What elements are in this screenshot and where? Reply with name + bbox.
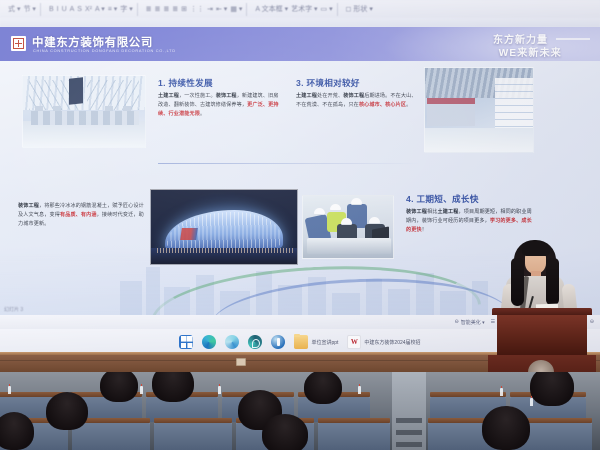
audience-head: [100, 372, 138, 402]
font-color-icon[interactable]: A ▾: [95, 6, 105, 13]
copilot-icon[interactable]: [248, 335, 262, 349]
wall-socket: [236, 358, 246, 366]
block-4-title: 4. 工期短、成长快: [406, 193, 532, 205]
picture-icon[interactable]: ▭ ▾: [321, 6, 333, 13]
wordart-icon[interactable]: 艺术字 ▾: [291, 6, 317, 13]
aisle: [392, 372, 426, 450]
audience-area: [0, 372, 600, 450]
ribbon-icon-section[interactable]: 节 ▾: [23, 6, 35, 13]
slide-text-block-4[interactable]: 4. 工期短、成长快 装饰工程相比土建工程，项目周期更短，相同的职业周期内，装饰…: [406, 193, 532, 235]
ribbon-divider: [0, 18, 600, 27]
ribbon-group-font[interactable]: B I U A S X² A ▾ ≡ ▾ 字 ▾: [45, 3, 138, 16]
ribbon-icon-style[interactable]: 式 ▾: [8, 6, 20, 13]
italic-icon[interactable]: I: [57, 6, 59, 13]
audience-head: [46, 392, 88, 430]
superscript-icon[interactable]: X²: [85, 6, 92, 13]
text-effect-icon[interactable]: 字 ▾: [120, 6, 132, 13]
header-glow: [370, 27, 600, 61]
taskbar-item-wps[interactable]: W 中建东方装饰2024届校招: [347, 335, 420, 349]
slide-text-block-1[interactable]: 1. 持续性发展 土建工程，一次性施工。装饰工程，新建建筑、旧房改造、翻新装饰、…: [158, 77, 282, 119]
block-3-title: 3. 环境相对较好: [296, 77, 418, 89]
audience-head: [304, 372, 342, 404]
windows-start-icon[interactable]: [179, 335, 193, 349]
slogan-rule: [556, 38, 590, 40]
align-left-icon[interactable]: ≣: [146, 6, 152, 13]
audience-head: [482, 406, 530, 450]
screenshot-root: 式 ▾ 节 ▾ B I U A S X² A ▾ ≡ ▾ 字 ▾ ≣ ≣ ≣ ≣…: [0, 0, 600, 450]
slide-text-block-3[interactable]: 3. 环境相对较好 土建工程处在开荒、装饰工程后期进场。不在大山、不在荒漠、不在…: [296, 77, 418, 110]
company-logo-icon: [11, 36, 26, 51]
photo-opera-house-night: [150, 189, 298, 265]
wps-icon: W: [347, 335, 361, 349]
audience-head: [0, 412, 34, 450]
shape-icon[interactable]: ◻ 形状 ▾: [346, 6, 373, 13]
photo-airport-terminal: [22, 75, 146, 148]
block-3-body: 土建工程处在开荒、装饰工程后期进场。不在大山、不在荒漠、不在孤岛，只在核心城市、…: [296, 92, 418, 110]
ribbon-group-style[interactable]: 式 ▾ 节 ▾: [4, 3, 41, 16]
slogan-english: WE来新未来: [499, 44, 562, 59]
photo-construction-workers: [302, 195, 394, 259]
podium-top: [492, 308, 592, 315]
presenter: [478, 236, 600, 386]
textbox-icon[interactable]: A 文本框 ▾: [255, 6, 288, 13]
podium-body: [497, 315, 587, 355]
slide-text-block-2[interactable]: 装饰工程，将那些冷冰冰的钢筋混凝土，赋予匠心设计及人文气息，变得有品质、有内涵，…: [18, 202, 144, 229]
font-case-icon[interactable]: A: [70, 6, 75, 13]
ribbon-group-paragraph[interactable]: ≣ ≣ ≣ ≣ ⊞ ⋮⋮ ⇥ ⇤ ▾ ▦ ▾: [142, 3, 248, 16]
wps-ribbon-toolbar[interactable]: 式 ▾ 节 ▾ B I U A S X² A ▾ ≡ ▾ 字 ▾ ≣ ≣ ≣ ≣…: [0, 0, 600, 18]
taskbar-item-folder[interactable]: 单位宣讲ppt: [294, 335, 338, 349]
taskbar-wps-label: 中建东方装饰2024届校招: [364, 339, 420, 346]
browser-icon[interactable]: [225, 335, 239, 349]
align-right-icon[interactable]: ≣: [163, 6, 169, 13]
folder-icon: [294, 335, 308, 349]
block-2-body: 装饰工程，将那些冷冰冰的钢筋混凝土，赋予匠心设计及人文气息，变得有品质、有内涵，…: [18, 202, 144, 229]
photo-atrium-corridor: [424, 67, 534, 153]
taskbar-folder-label: 单位宣讲ppt: [311, 339, 338, 346]
sparkle-icon: ⊖: [455, 319, 459, 325]
presenter-fringe: [522, 242, 550, 256]
company-name-en: CHINA CONSTRUCTION DONGFANG DECORATION C…: [33, 48, 176, 53]
line-spacing-icon[interactable]: ⋮⋮: [190, 6, 204, 13]
justify-icon[interactable]: ≣: [172, 6, 178, 13]
blue-app-icon[interactable]: [271, 335, 285, 349]
ribbon-group-shape[interactable]: ◻ 形状 ▾: [342, 3, 377, 16]
align-center-icon[interactable]: ≣: [155, 6, 161, 13]
presenter-hair-right: [546, 258, 559, 306]
block-1-title: 1. 持续性发展: [158, 77, 282, 89]
columns-icon[interactable]: ⊞: [181, 6, 187, 13]
audience-head: [152, 372, 194, 402]
table-icon[interactable]: ▦ ▾: [230, 6, 242, 13]
slide-divider: [158, 163, 420, 164]
block-1-body: 土建工程，一次性施工。装饰工程，新建建筑、旧房改造、翻新装饰、古建筑修缮保养等，…: [158, 92, 282, 119]
audience-head: [262, 414, 308, 450]
presenter-hair-left: [511, 258, 524, 306]
bold-icon[interactable]: B: [49, 6, 54, 13]
indent-decrease-icon[interactable]: ⇤ ▾: [216, 6, 227, 13]
strikethrough-icon[interactable]: S: [77, 6, 82, 13]
block-4-body: 装饰工程相比土建工程，项目周期更短，相同的职业周期内，装饰行业可经历的项目更多，…: [406, 208, 532, 235]
slide-header-band: 中建东方装饰有限公司 CHINA CONSTRUCTION DONGFANG D…: [0, 27, 600, 61]
audience-head: [530, 372, 574, 406]
slide-note: 幻灯片 3: [4, 306, 23, 313]
indent-increase-icon[interactable]: ⇥: [207, 6, 213, 13]
highlight-icon[interactable]: ≡ ▾: [108, 6, 118, 13]
edge-icon[interactable]: [202, 335, 216, 349]
underline-icon[interactable]: U: [62, 6, 67, 13]
ribbon-group-insert[interactable]: A 文本框 ▾ 艺术字 ▾ ▭ ▾: [251, 3, 337, 16]
